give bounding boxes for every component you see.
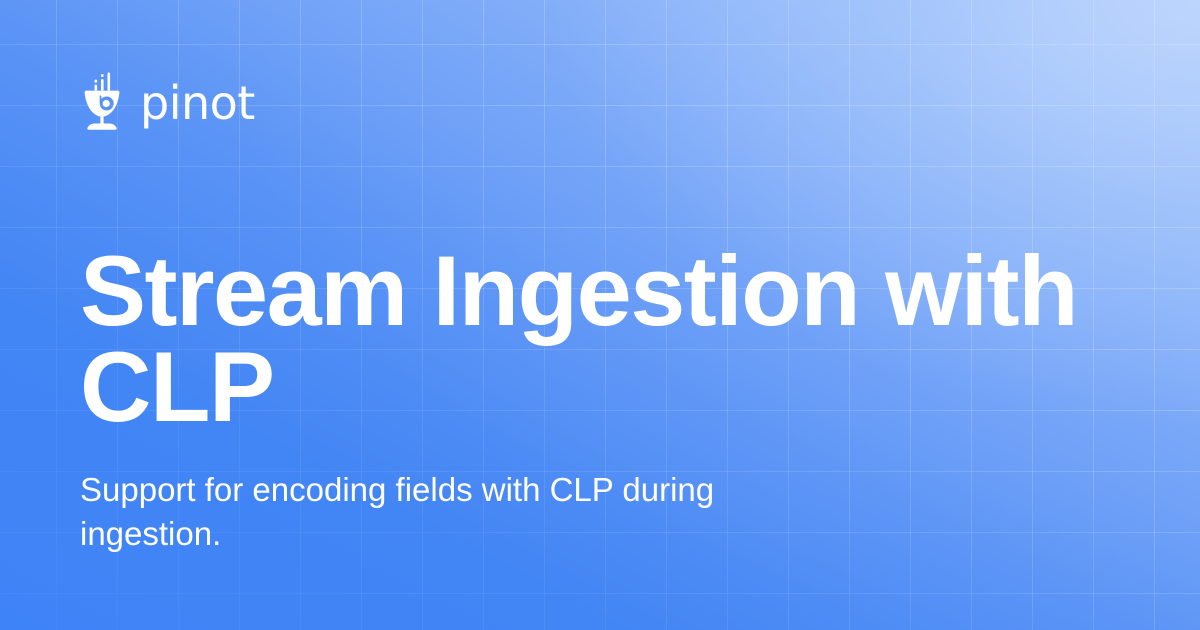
card-content: pinot Stream Ingestion with CLP Support … [0,0,1200,630]
page-subtitle: Support for encoding fields with CLP dur… [80,468,800,556]
page-title: Stream Ingestion with CLP [80,243,1080,435]
pinot-glass-icon [80,72,124,134]
og-card: pinot Stream Ingestion with CLP Support … [0,0,1200,630]
brand-name: pinot [140,80,255,126]
brand-lockup: pinot [80,72,255,134]
